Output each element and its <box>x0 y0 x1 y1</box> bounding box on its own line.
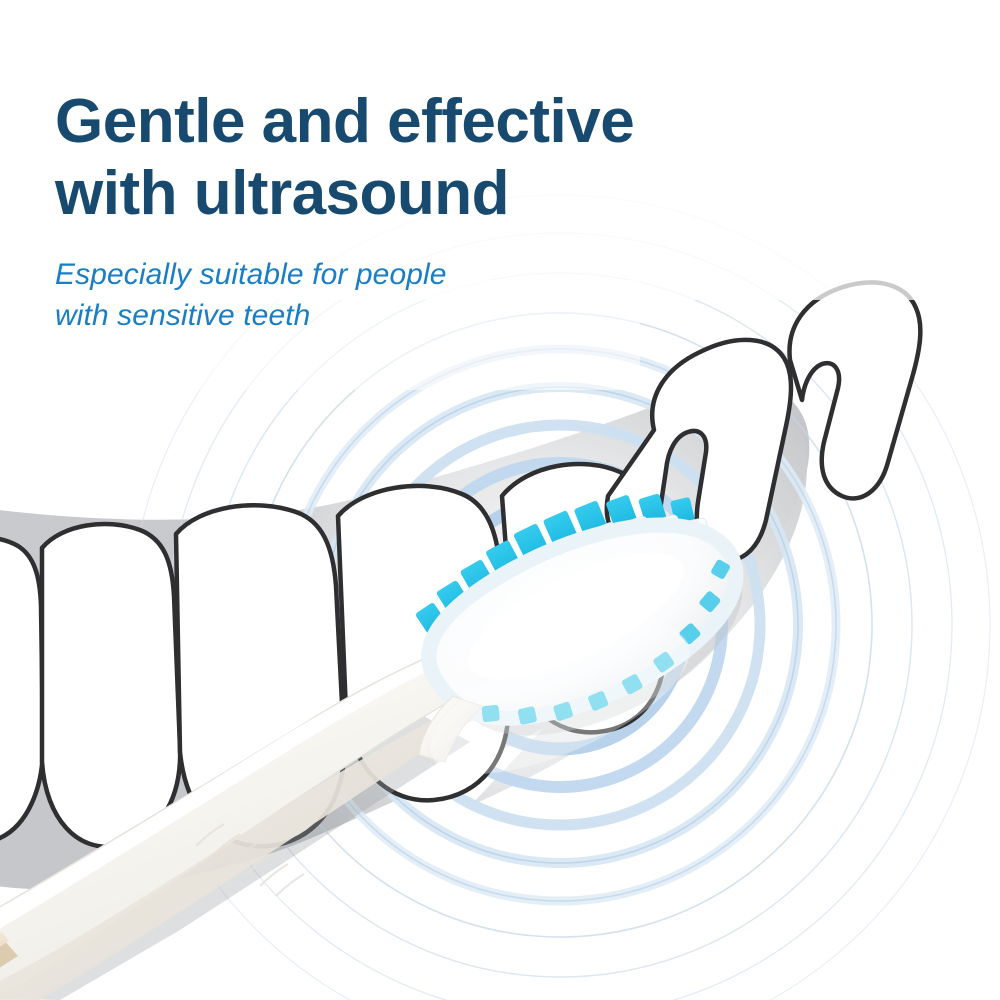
page-subtitle: Especially suitable for people with sens… <box>55 230 855 336</box>
text-block: Gentle and effective with ultrasound Esp… <box>55 86 855 336</box>
promo-image: Gentle and effective with ultrasound Esp… <box>0 0 1000 1000</box>
tooth <box>42 524 180 847</box>
page-title: Gentle and effective with ultrasound <box>55 86 855 230</box>
tooth <box>0 538 43 843</box>
